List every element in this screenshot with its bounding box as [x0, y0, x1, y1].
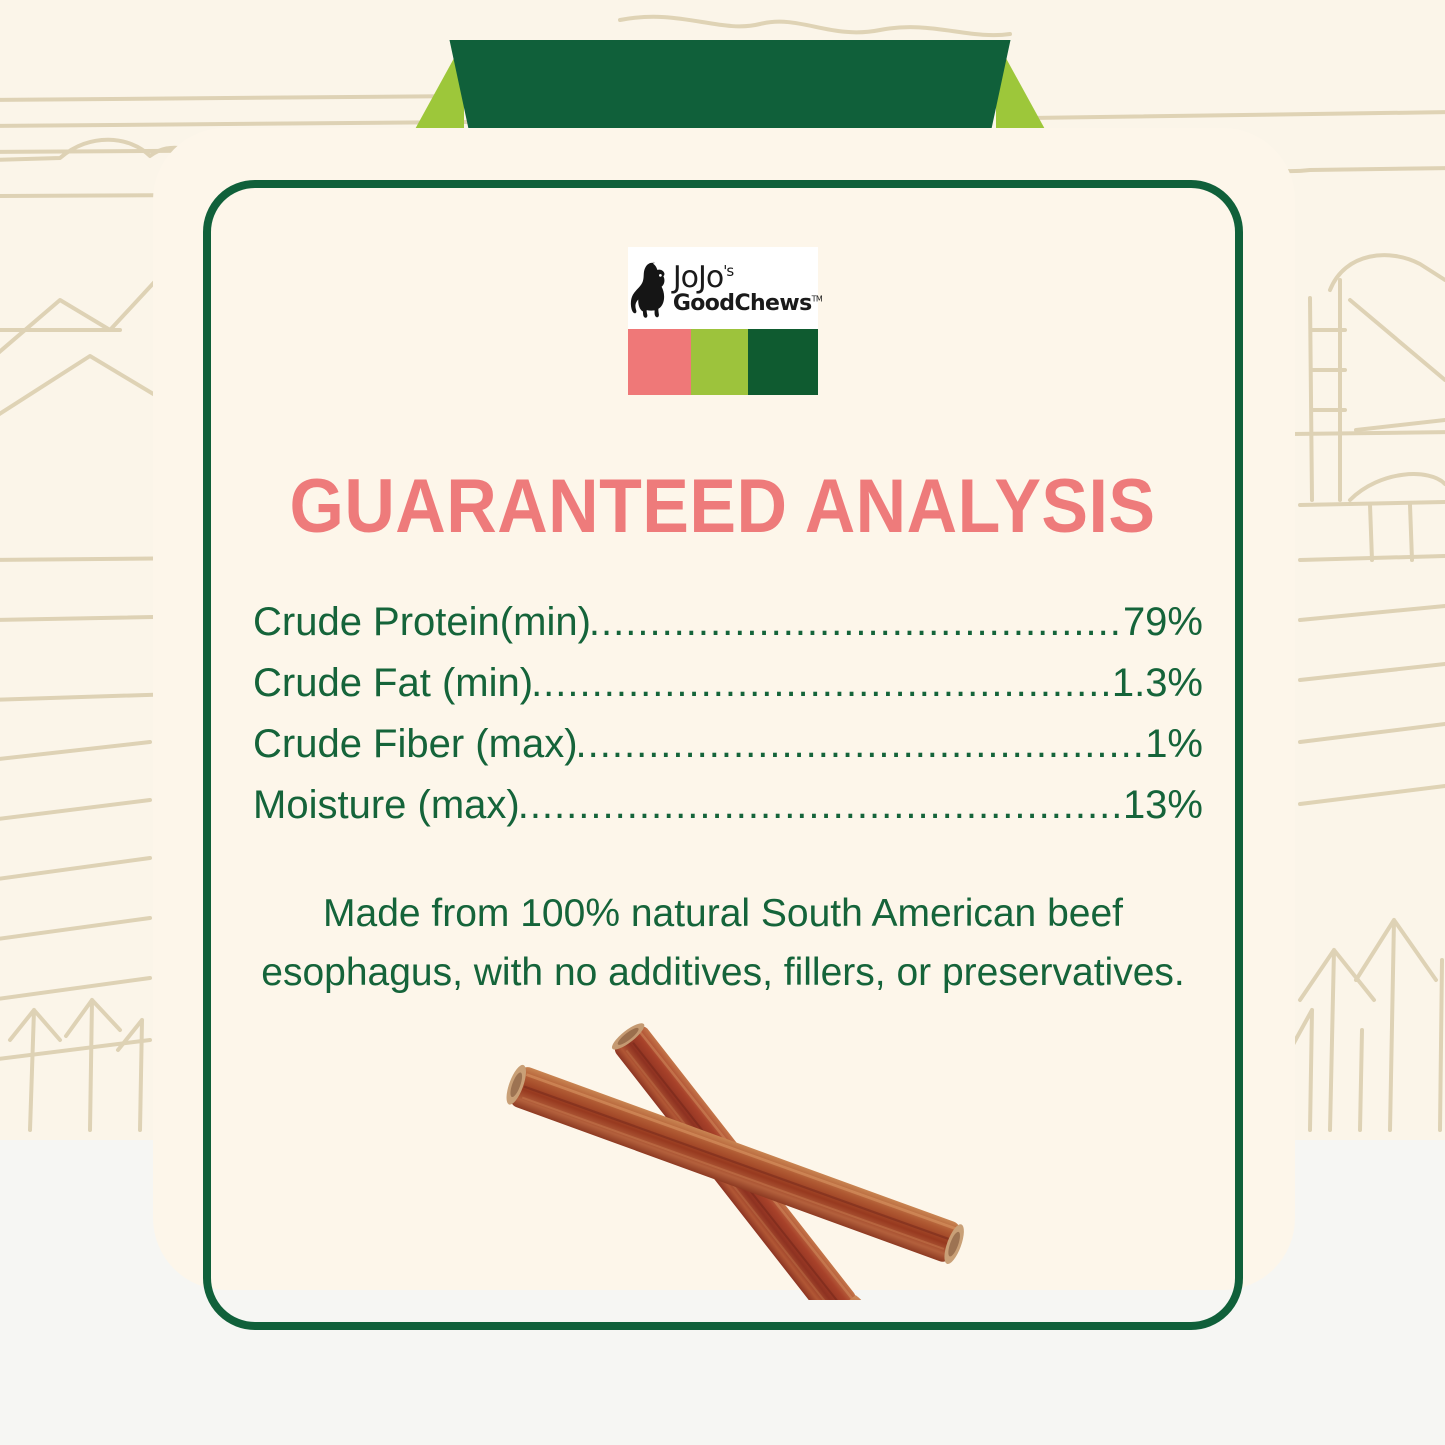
swatch-dark-green	[748, 329, 818, 395]
analysis-row: Moisture (max) .........................…	[253, 783, 1203, 844]
analysis-row-label: Moisture (max)	[253, 783, 520, 828]
analysis-row: Crude Fat (min) ........................…	[253, 661, 1203, 722]
analysis-row-leader: ........................................…	[518, 783, 1125, 828]
analysis-row: Crude Fiber (max) ......................…	[253, 722, 1203, 783]
dog-silhouette-icon	[624, 260, 670, 318]
analysis-row-leader: ........................................…	[531, 661, 1114, 706]
analysis-row-value: 1.3%	[1112, 661, 1203, 706]
guaranteed-analysis-list: Crude Protein(min) .....................…	[253, 600, 1203, 844]
analysis-row-label: Crude Fat (min)	[253, 661, 533, 706]
brand-color-swatches	[628, 329, 818, 395]
brand-logo-wordmark-area: JoJo's GoodChewsTM	[628, 247, 818, 329]
description-line-1: Made from 100% natural South American be…	[223, 884, 1223, 943]
analysis-row: Crude Protein(min) .....................…	[253, 600, 1203, 661]
analysis-row-value: 1%	[1145, 722, 1203, 767]
description-line-2: esophagus, with no additives, fillers, o…	[223, 943, 1223, 1002]
swatch-lime	[691, 329, 747, 395]
brand-logo: JoJo's GoodChewsTM	[628, 247, 818, 395]
bully-sticks-photo	[440, 1020, 1020, 1300]
analysis-row-value: 79%	[1123, 600, 1203, 645]
analysis-row-leader: ........................................…	[576, 722, 1148, 767]
product-label-graphic: JoJo's GoodChewsTM GUARANTEED ANALYSIS C…	[0, 0, 1445, 1445]
brand-name-primary: JoJo's	[673, 265, 822, 291]
analysis-row-label: Crude Protein(min)	[253, 600, 591, 645]
brand-name-secondary: GoodChewsTM	[673, 294, 822, 313]
analysis-row-leader: ........................................…	[589, 600, 1125, 645]
analysis-row-value: 13%	[1123, 783, 1203, 828]
page-title: GUARANTEED ANALYSIS	[58, 463, 1387, 550]
analysis-row-label: Crude Fiber (max)	[253, 722, 578, 767]
swatch-coral	[628, 329, 691, 395]
product-description: Made from 100% natural South American be…	[223, 884, 1223, 1003]
